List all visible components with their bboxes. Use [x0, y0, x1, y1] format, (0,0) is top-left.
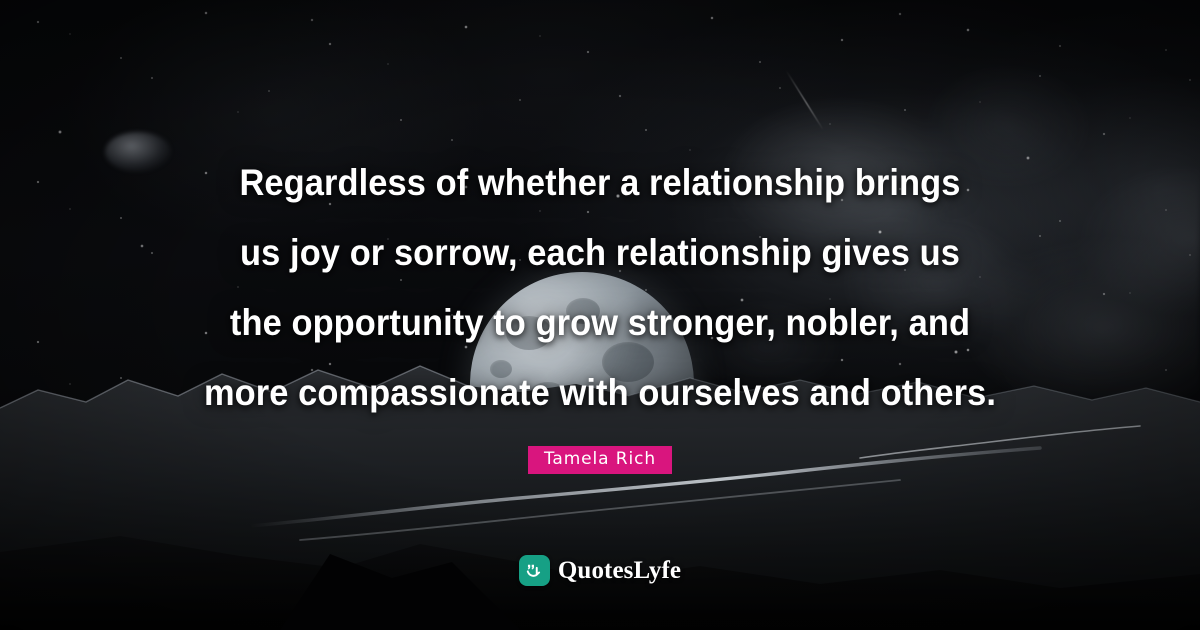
quote-smiley-glyph — [523, 560, 545, 582]
brand-name-text: QuotesLyfe — [558, 557, 681, 585]
brand-logo[interactable]: QuotesLyfe — [0, 555, 1200, 586]
quote-line-4: more compassionate with ourselves and ot… — [172, 358, 1028, 428]
quote-image-canvas: Regardless of whether a relationship bri… — [0, 0, 1200, 630]
quote-smiley-icon — [519, 555, 550, 586]
quote-line-2: us joy or sorrow, each relationship give… — [172, 218, 1028, 288]
quote-line-3: the opportunity to grow stronger, nobler… — [172, 288, 1028, 358]
author-attribution: Tamela Rich — [0, 446, 1200, 474]
author-name-badge[interactable]: Tamela Rich — [528, 446, 672, 474]
quote-line-1: Regardless of whether a relationship bri… — [172, 148, 1028, 218]
quote-text: Regardless of whether a relationship bri… — [42, 148, 1158, 428]
